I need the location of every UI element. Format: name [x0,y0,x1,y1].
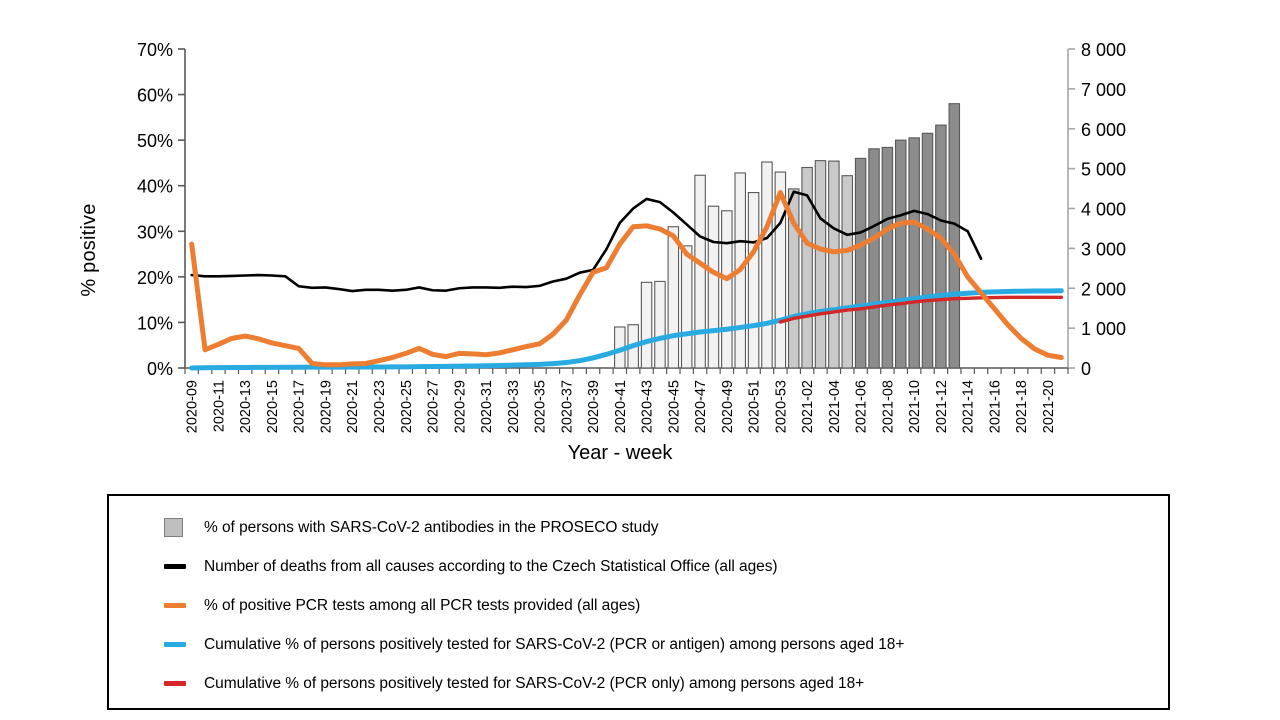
y-axis-left-tick-label: 60% [137,86,173,106]
bar [762,162,772,368]
bar [815,161,825,368]
bar [882,147,892,368]
y-axis-right-tick-label: 2 000 [1081,279,1126,299]
x-axis-tick-label: 2021-10 [907,380,923,433]
x-axis-tick-label: 2020-29 [452,380,468,433]
legend-item-label: Cumulative % of persons positively teste… [204,675,864,693]
legend-marker [164,681,186,686]
x-axis-tick-label: 2020-43 [640,380,656,433]
bar [708,206,718,368]
y-axis-left-tick-label: 40% [137,177,173,197]
x-axis-tick-label: 2020-19 [318,380,334,433]
bar [655,281,665,368]
x-axis-tick-label: 2020-25 [399,380,415,433]
x-axis-tick-label: 2020-39 [586,380,602,433]
bar [722,211,732,368]
x-axis-tick-label: 2020-31 [479,380,495,433]
x-axis-tick-label: 2020-49 [720,380,736,433]
y-axis-left-tick-label: 0% [147,359,173,379]
legend-swatch-line-icon [164,603,204,608]
legend-marker [164,603,186,608]
legend-marker [164,518,183,537]
legend-item[interactable]: % of persons with SARS-CoV-2 antibodies … [164,508,1158,547]
bar [641,282,651,368]
x-axis-tick-label: 2021-08 [880,380,896,433]
x-axis-tick-label: 2020-33 [506,380,522,433]
bar [936,125,946,368]
y-axis-right-tick-label: 6 000 [1081,120,1126,140]
bar [842,176,852,368]
x-axis-tick-label: 2021-06 [854,380,870,433]
x-axis-tick-label: 2020-37 [559,380,575,433]
combo-chart: 0%10%20%30%40%50%60%70%01 0002 0003 0004… [0,0,1280,485]
y-axis-right-tick-label: 5 000 [1081,160,1126,180]
bar [896,140,906,368]
legend-list: % of persons with SARS-CoV-2 antibodies … [164,508,1158,703]
bar [949,104,959,368]
x-axis-tick-label: 2021-04 [827,380,843,433]
y-axis-left-tick-label: 30% [137,222,173,242]
legend-item-label: % of positive PCR tests among all PCR te… [204,597,640,615]
x-axis-tick-label: 2020-21 [345,380,361,433]
y-axis-right-tick-label: 8 000 [1081,40,1126,60]
figure-root: 0%10%20%30%40%50%60%70%01 0002 0003 0004… [0,0,1280,720]
x-axis-tick-label: 2020-47 [693,380,709,433]
legend-swatch-line-icon [164,681,204,686]
bar [681,246,691,368]
x-axis-tick-label: 2021-20 [1041,380,1057,433]
bar [869,149,879,368]
x-axis-tick-label: 2020-13 [238,380,254,433]
y-axis-left-tick-label: 70% [137,40,173,60]
bar [695,175,705,368]
bar [748,193,758,368]
x-axis-tick-label: 2020-09 [185,380,201,433]
legend-swatch-box-icon [164,518,204,537]
y-axis-left-title: % positive [78,150,101,350]
legend-item-label: Cumulative % of persons positively teste… [204,636,904,654]
bar [909,138,919,368]
legend-item[interactable]: Cumulative % of persons positively teste… [164,664,1158,703]
y-axis-right-tick-label: 3 000 [1081,239,1126,259]
legend-swatch-line-icon [164,642,204,647]
y-axis-left-tick-label: 20% [137,268,173,288]
x-axis-title: Year - week [440,442,800,465]
legend-marker [164,642,186,647]
x-axis-tick-label: 2020-15 [265,380,281,433]
x-axis-tick-label: 2020-35 [533,380,549,433]
x-axis-tick-label: 2021-16 [987,380,1003,433]
chart-area: 0%10%20%30%40%50%60%70%01 0002 0003 0004… [0,0,1280,485]
y-axis-right-tick-label: 4 000 [1081,200,1126,220]
y-axis-right-tick-label: 7 000 [1081,80,1126,100]
bar [829,161,839,368]
x-axis-tick-label: 2020-11 [211,380,227,432]
y-axis-left-tick-label: 10% [137,313,173,333]
x-axis-tick-label: 2021-12 [934,380,950,433]
x-axis-tick-label: 2020-17 [292,380,308,433]
legend-item-label: Number of deaths from all causes accordi… [204,558,778,576]
x-axis-tick-label: 2020-53 [773,380,789,433]
legend-item[interactable]: % of positive PCR tests among all PCR te… [164,586,1158,625]
x-axis-tick-label: 2021-02 [800,380,816,433]
bar [922,133,932,368]
x-axis-tick-label: 2020-27 [426,380,442,433]
y-axis-right-tick-label: 0 [1081,359,1091,379]
x-axis-tick-label: 2020-45 [666,380,682,433]
legend-box: % of persons with SARS-CoV-2 antibodies … [107,494,1170,710]
x-axis-tick-label: 2020-23 [372,380,388,433]
legend-item-label: % of persons with SARS-CoV-2 antibodies … [204,519,658,537]
x-axis-tick-label: 2020-51 [747,380,763,433]
legend-marker [164,564,186,569]
y-axis-left-tick-label: 50% [137,131,173,151]
x-axis-tick-label: 2021-14 [961,380,977,433]
bar [668,227,678,368]
legend-swatch-line-icon [164,564,204,569]
legend-item[interactable]: Cumulative % of persons positively teste… [164,625,1158,664]
x-axis-tick-label: 2021-18 [1014,380,1030,433]
x-axis-tick-label: 2020-41 [613,380,629,433]
y-axis-right-tick-label: 1 000 [1081,319,1126,339]
legend-item[interactable]: Number of deaths from all causes accordi… [164,547,1158,586]
bar [855,158,865,368]
